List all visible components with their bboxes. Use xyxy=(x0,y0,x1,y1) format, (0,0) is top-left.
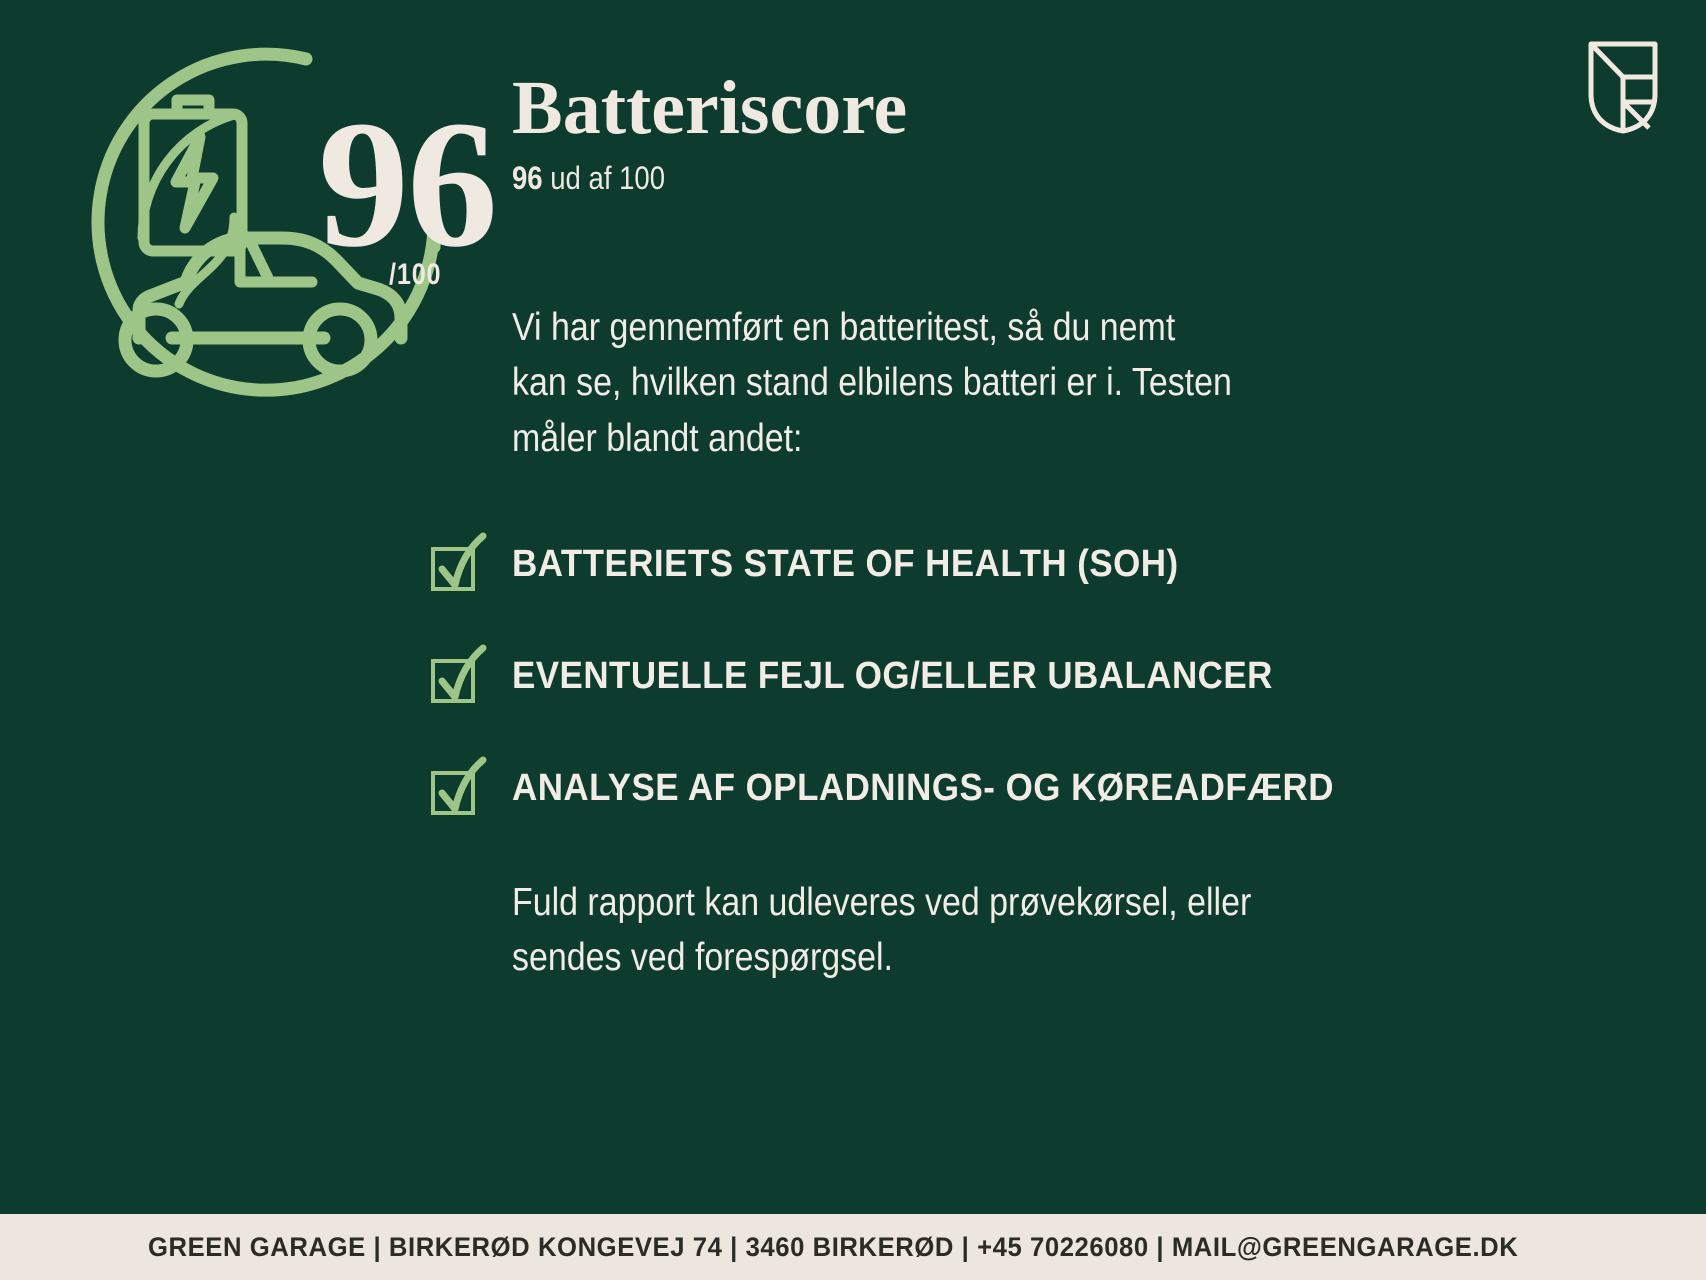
checkbox-checked-icon xyxy=(430,755,488,817)
test-checklist: BATTERIETS STATE OF HEALTH (SOH) EVENTUE… xyxy=(430,508,1530,844)
checkbox-checked-icon xyxy=(430,531,488,593)
green-garage-shield-logo xyxy=(1587,40,1659,134)
score-denominator: /100 xyxy=(389,260,441,290)
checklist-item: EVENTUELLE FEJL OG/ELLER UBALANCER xyxy=(430,620,1530,732)
footer-bar: GREEN GARAGE | BIRKERØD KONGEVEJ 74 | 34… xyxy=(0,1214,1706,1280)
footer-contact-info: GREEN GARAGE | BIRKERØD KONGEVEJ 74 | 34… xyxy=(148,1234,1518,1261)
header-block: Batteriscore 96 ud af 100 xyxy=(512,70,1512,194)
checklist-item-label: EVENTUELLE FEJL OG/ELLER UBALANCER xyxy=(512,657,1273,695)
score-subtitle-rest: ud af 100 xyxy=(543,160,665,196)
score-subtitle-value: 96 xyxy=(512,160,543,196)
intro-paragraph-wrapper: Vi har gennemført en batteritest, så du … xyxy=(512,300,1562,466)
checklist-item-label: BATTERIETS STATE OF HEALTH (SOH) xyxy=(512,545,1179,583)
checklist-item: ANALYSE AF OPLADNINGS- OG KØREADFÆRD xyxy=(430,732,1530,844)
intro-paragraph: Vi har gennemført en batteritest, så du … xyxy=(512,300,1426,466)
checkbox-checked-icon xyxy=(430,643,488,705)
checklist-item: BATTERIETS STATE OF HEALTH (SOH) xyxy=(430,508,1530,620)
outro-paragraph-wrapper: Fuld rapport kan udleveres ved prøvekørs… xyxy=(512,875,1562,986)
score-subtitle: 96 ud af 100 xyxy=(512,162,1372,194)
page-title: Batteriscore xyxy=(512,70,1512,148)
batteriscore-card: 96 /100 Batteriscore 96 ud af 100 Vi har… xyxy=(0,0,1706,1280)
checklist-item-label: ANALYSE AF OPLADNINGS- OG KØREADFÆRD xyxy=(512,769,1334,807)
battery-score-badge: 96 /100 xyxy=(82,42,452,412)
score-number: 96 xyxy=(318,94,496,276)
outro-paragraph: Fuld rapport kan udleveres ved prøvekørs… xyxy=(512,875,1426,986)
